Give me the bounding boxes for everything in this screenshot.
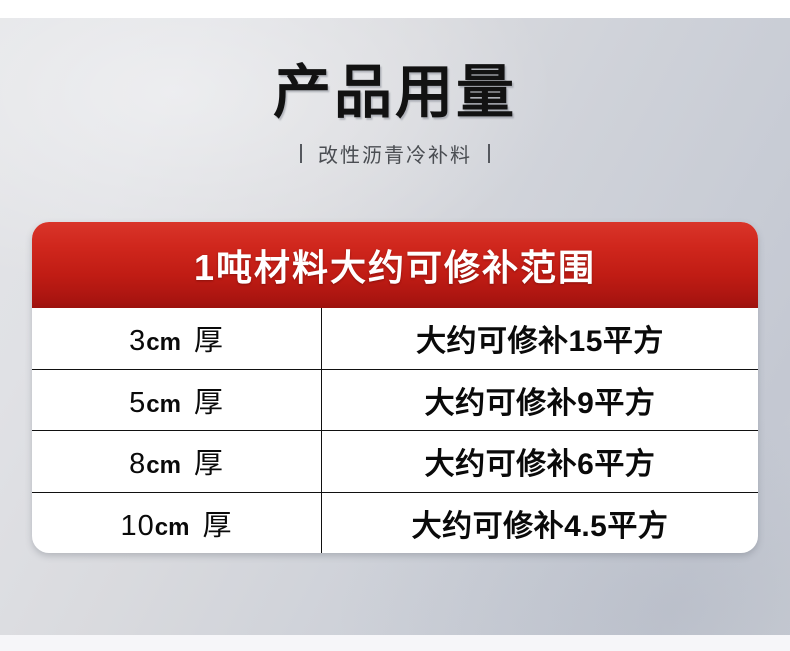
table-cell-thickness: 10cm厚: [32, 493, 322, 554]
table-cell-thickness: 3cm厚: [32, 308, 322, 369]
background-bottom-strip: [0, 635, 790, 651]
table-cell-coverage: 大约可修补15平方: [322, 316, 758, 360]
page-title: 产品用量: [0, 62, 790, 125]
thickness-text: 3cm厚: [129, 317, 224, 359]
thickness-unit: cm: [146, 391, 181, 418]
thickness-value: 5: [129, 387, 146, 419]
table-row: 3cm厚 大约可修补15平方: [32, 308, 758, 370]
thickness-value: 3: [129, 325, 146, 357]
thickness-unit: cm: [155, 514, 190, 541]
page-subtitle-row: 改性沥青冷补料: [0, 139, 790, 168]
coverage-text: 大约可修补4.5平方: [412, 501, 669, 545]
thickness-text: 10cm厚: [121, 502, 233, 544]
table-cell-thickness: 5cm厚: [32, 370, 322, 431]
table-cell-coverage: 大约可修补4.5平方: [322, 501, 758, 545]
thickness-text: 5cm厚: [129, 379, 224, 421]
card-banner-label: 1吨材料大约可修补范围: [194, 239, 596, 291]
thickness-suffix: 厚: [194, 387, 224, 419]
thickness-text: 8cm厚: [129, 440, 224, 482]
thickness-suffix: 厚: [194, 448, 224, 480]
table-cell-coverage: 大约可修补6平方: [322, 439, 758, 483]
heading-block: 产品用量 改性沥青冷补料: [0, 62, 790, 168]
card-banner: 1吨材料大约可修补范围: [32, 222, 758, 308]
thickness-value: 8: [129, 448, 146, 480]
subtitle-right-rule-icon: [488, 144, 490, 163]
table-row: 10cm厚 大约可修补4.5平方: [32, 493, 758, 554]
thickness-unit: cm: [146, 452, 181, 479]
coverage-text: 大约可修补6平方: [425, 439, 656, 483]
coverage-text: 大约可修补9平方: [425, 378, 656, 422]
product-usage-infographic: 产品用量 改性沥青冷补料 1吨材料大约可修补范围 3cm厚 大约可修补15平方 …: [0, 0, 790, 651]
usage-card: 1吨材料大约可修补范围 3cm厚 大约可修补15平方 5cm厚 大约可修补9平方: [32, 222, 758, 553]
table-cell-coverage: 大约可修补9平方: [322, 378, 758, 422]
thickness-value: 10: [121, 510, 155, 542]
thickness-unit: cm: [146, 329, 181, 356]
usage-table: 3cm厚 大约可修补15平方 5cm厚 大约可修补9平方 8cm厚: [32, 308, 758, 553]
table-row: 8cm厚 大约可修补6平方: [32, 431, 758, 493]
subtitle-left-rule-icon: [300, 144, 302, 163]
background-top-strip: [0, 0, 790, 18]
page-subtitle: 改性沥青冷补料: [318, 139, 472, 168]
coverage-text: 大约可修补15平方: [416, 316, 664, 360]
table-cell-thickness: 8cm厚: [32, 431, 322, 492]
thickness-suffix: 厚: [194, 325, 224, 357]
thickness-suffix: 厚: [202, 510, 232, 542]
table-row: 5cm厚 大约可修补9平方: [32, 370, 758, 432]
